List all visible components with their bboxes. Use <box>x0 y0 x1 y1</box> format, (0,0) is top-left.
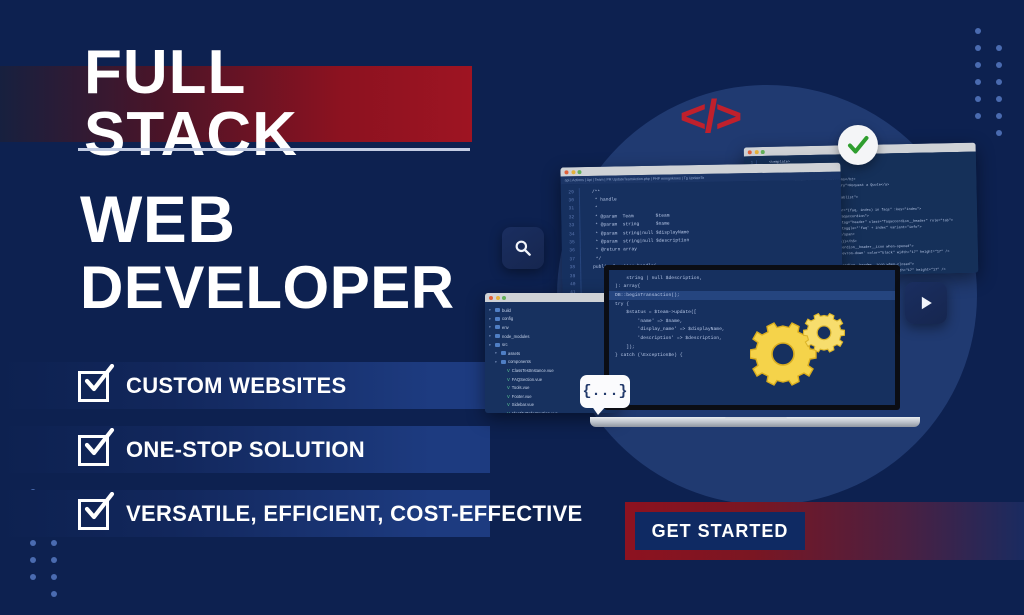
illustration-group: </> 1<template>2 <div class="container">… <box>480 60 1024 460</box>
file-tree-item-label: ClassTestInstance.vue <box>512 368 554 373</box>
code-text: string | null $description, <box>609 276 702 281</box>
full-stack-banner: FULL STACK <box>0 66 472 142</box>
code-line-number: 30 <box>561 198 579 203</box>
file-tree-item-label: Footer.vue <box>512 394 532 399</box>
gears-icon <box>750 308 850 388</box>
code-text: ): array{ <box>609 284 640 289</box>
code-line-number: 32 <box>561 215 579 220</box>
curly-braces-icon[interactable]: {...} <box>580 375 630 413</box>
feature-label: ONE-STOP SOLUTION <box>126 437 365 463</box>
code-text: * @param string $name <box>586 222 669 228</box>
feature-row: VERSATILE, EFFICIENT, COST-EFFECTIVE <box>0 490 490 537</box>
vue-file-icon: V <box>507 402 510 407</box>
code-tags-icon: </> <box>665 90 755 142</box>
folder-icon <box>495 325 500 329</box>
search-icon-button[interactable] <box>502 227 544 269</box>
code-text: 'description' => $description, <box>609 336 722 341</box>
code-text: 'name' => $name, <box>609 319 683 324</box>
vue-file-icon: V <box>507 385 510 390</box>
laptop-trackpad-notch <box>725 417 787 420</box>
check-mark-glyph <box>83 492 115 524</box>
feature-row: ONE-STOP SOLUTION <box>0 426 490 473</box>
code-line-number: 34 <box>562 232 580 237</box>
code-text: * @return array <box>587 248 637 254</box>
decorative-dot <box>975 28 981 34</box>
file-tree-item-label: env <box>502 325 509 330</box>
checkbox-checked-icon <box>78 369 112 403</box>
file-tree-item-label: assets <box>508 351 520 356</box>
file-tree-item-label: node_modules <box>502 334 529 339</box>
code-line-number: 37 <box>562 257 580 262</box>
file-tree-item-label: build <box>502 308 511 313</box>
code-text: DB::beginTransaction(); <box>609 293 680 298</box>
play-icon <box>916 293 936 313</box>
minimize-dot-icon[interactable] <box>571 170 575 174</box>
folder-icon <box>501 351 506 355</box>
file-tree-item-label: src <box>502 342 508 347</box>
decorative-dot <box>996 45 1002 51</box>
folder-icon <box>495 343 500 347</box>
code-text: * @param string|null $displayName <box>587 230 690 237</box>
code-text: * <box>586 206 598 211</box>
play-icon-button[interactable] <box>905 282 947 324</box>
code-text: $status = $team->update([ <box>609 310 697 315</box>
maximize-dot-icon[interactable] <box>577 170 581 174</box>
decorative-dot <box>975 45 981 51</box>
file-tree-item-label: components <box>508 359 531 364</box>
code-line-number: 33 <box>561 223 579 228</box>
poster-canvas: FULL STACK WEB DEVELOPER CUSTOM WEBSITES… <box>0 0 1024 615</box>
minimize-dot-icon[interactable] <box>754 150 758 154</box>
code-line-number: 38 <box>562 265 580 270</box>
code-line: DB::beginTransaction(); <box>609 291 895 300</box>
maximize-dot-icon[interactable] <box>502 296 506 300</box>
maximize-dot-icon[interactable] <box>761 150 765 154</box>
green-check-glyph <box>846 133 870 157</box>
folder-icon <box>495 308 500 312</box>
code-text: * @param Team $team <box>586 213 669 219</box>
code-line-number: 36 <box>562 249 580 254</box>
chevron-down-icon[interactable]: ▾ <box>495 351 499 355</box>
folder-icon <box>495 317 500 321</box>
check-badge-icon <box>838 125 878 165</box>
code-text: * @param string|null $description <box>587 238 690 245</box>
close-dot-icon[interactable] <box>564 170 568 174</box>
headline-line-1: WEB <box>80 186 235 252</box>
file-tree-item-label: IdentityOrderSection.vue <box>512 411 558 413</box>
code-text: * handle <box>586 198 617 204</box>
search-icon <box>513 238 533 258</box>
code-text: } catch (\Exception$e) { <box>609 353 683 358</box>
chevron-down-icon[interactable]: ▾ <box>489 317 493 321</box>
vue-file-icon: V <box>507 394 510 399</box>
close-dot-icon[interactable] <box>748 150 752 154</box>
feature-label: VERSATILE, EFFICIENT, COST-EFFECTIVE <box>126 501 583 527</box>
code-line: ): array{ <box>609 283 895 292</box>
folder-icon <box>495 334 500 338</box>
code-text: try { <box>609 302 629 307</box>
speech-bubble-tail <box>591 405 607 415</box>
file-tree-item-label: Sidebar.vue <box>512 402 534 407</box>
chevron-down-icon[interactable]: ▾ <box>489 308 493 312</box>
chevron-down-icon[interactable]: ▾ <box>495 360 499 364</box>
code-line-number: 40 <box>562 282 580 287</box>
chevron-down-icon[interactable]: ▾ <box>489 325 493 329</box>
vue-file-icon: V <box>507 411 510 413</box>
curly-braces-glyph: {...} <box>580 375 630 408</box>
code-line-number: 39 <box>562 274 580 279</box>
code-text: */ <box>587 257 601 262</box>
folder-icon <box>501 360 506 364</box>
code-text: 'display_name' => $displayName, <box>609 327 725 332</box>
get-started-button[interactable]: GET STARTED <box>635 512 805 550</box>
code-line-number: 29 <box>561 190 579 195</box>
file-tree-item-label: Tools.vue <box>512 385 530 390</box>
headline-line-2: DEVELOPER <box>80 258 455 318</box>
code-text: ]); <box>609 345 635 350</box>
title-divider-rule <box>78 148 470 151</box>
close-dot-icon[interactable] <box>489 296 493 300</box>
code-line-number: 35 <box>562 240 580 245</box>
chevron-down-icon[interactable]: ▾ <box>489 343 493 347</box>
file-tree-item-label: FAQSection.vue <box>512 377 542 382</box>
code-text: /** <box>586 189 600 194</box>
vue-file-icon: V <box>507 368 510 373</box>
vue-file-icon: V <box>507 377 510 382</box>
check-mark-glyph <box>83 428 115 460</box>
feature-row: CUSTOM WEBSITES <box>0 362 490 409</box>
checkbox-checked-icon <box>78 497 112 531</box>
checkbox-checked-icon <box>78 433 112 467</box>
code-line: string | null $description, <box>609 274 895 283</box>
code-line-number: 31 <box>561 207 579 212</box>
decorative-dot <box>996 28 1002 34</box>
feature-label: CUSTOM WEBSITES <box>126 373 346 399</box>
minimize-dot-icon[interactable] <box>496 296 500 300</box>
file-tree-item-label: config <box>502 316 513 321</box>
check-mark-glyph <box>83 364 115 396</box>
chevron-down-icon[interactable]: ▾ <box>489 334 493 338</box>
